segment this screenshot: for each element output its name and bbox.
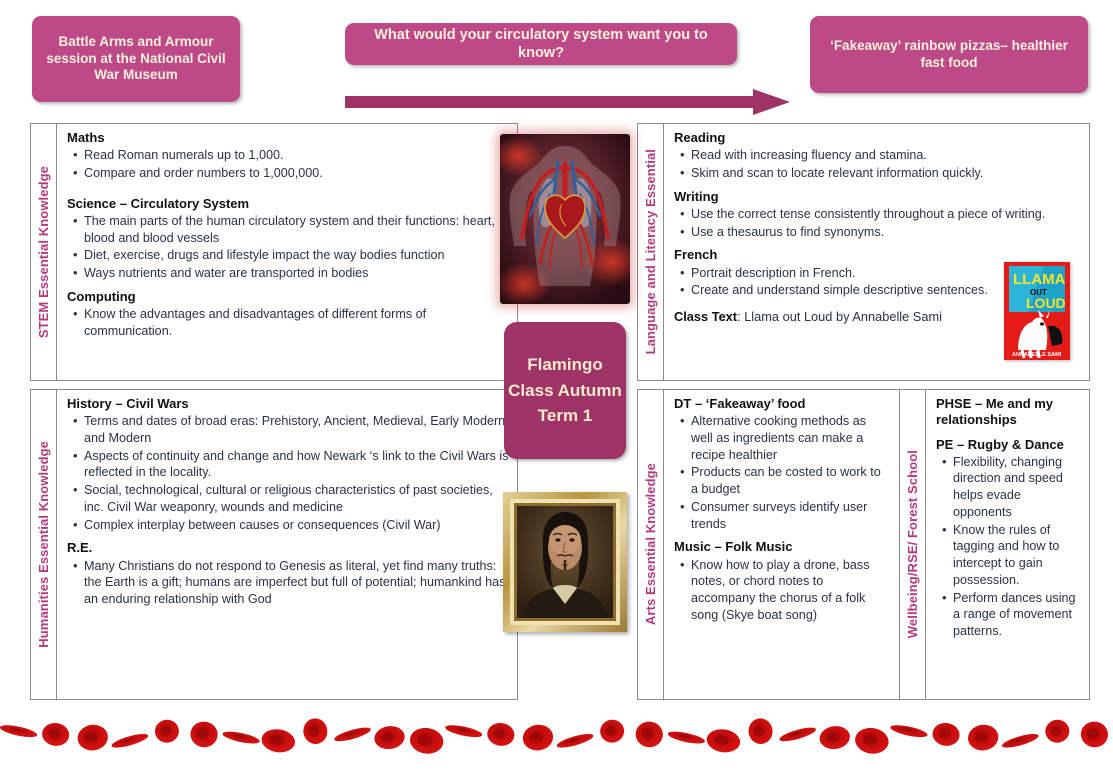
blood-cell [818,724,851,751]
banner-driving-question-text: What would your circulatory system want … [355,26,727,62]
blood-cell [931,721,961,747]
language-label-column: Language and Literacy Essential [638,124,664,380]
stem-vertical-label: STEM Essential Knowledge [36,166,51,338]
blood-cell [1079,720,1109,749]
arts-vertical-label: Arts Essential Knowledge [643,463,658,625]
blood-cell [705,727,741,754]
class-text-value: : Llama out Loud by Annabelle Sami [737,309,942,324]
language-section-heading: Reading [674,130,1081,146]
right-arrow-icon [345,88,790,116]
arts-content: DT – ‘Fakeaway’ foodAlternative cooking … [664,390,899,699]
stem-section-heading: Maths [67,130,509,146]
blood-cell [1044,718,1071,744]
list-item: Many Christians do not respond to Genesi… [84,558,509,608]
humanities-label-column: Humanities Essential Knowledge [31,390,57,699]
list-item: Skim and scan to locate relevant informa… [691,165,1081,182]
blood-cell [222,729,261,746]
wellbeing-section-list: Flexibility, changing direction and spee… [936,454,1081,640]
banner-museum-visit: Battle Arms and Armour session at the Na… [32,16,240,102]
list-item: Know how to play a drone, bass notes, or… [691,557,891,624]
list-item: Complex interplay between causes or cons… [84,517,509,534]
arts-section-list: Alternative cooking methods as well as i… [674,413,891,532]
list-item: The main parts of the human circulatory … [84,213,509,246]
blood-cell [408,726,445,756]
stem-section-list: The main parts of the human circulatory … [67,213,509,282]
blood-cell-border-decoration [0,706,1113,783]
list-item: Use a thesaurus to find synonyms. [691,224,1081,241]
banner-fakeaway-pizza-text: ‘Fakeaway’ rainbow pizzas– healthier fas… [820,38,1078,72]
blood-cell [373,724,406,751]
blood-cell [41,721,71,747]
list-item: Flexibility, changing direction and spee… [953,454,1081,521]
wellbeing-vertical-label: Wellbeing/RSE/ Forest School [905,450,920,638]
stem-content: MathsRead Roman numerals up to 1,000.Com… [57,124,517,380]
humanities-section-heading: History – Civil Wars [67,396,509,412]
arts-label-column: Arts Essential Knowledge [638,390,664,699]
list-item: Read with increasing fluency and stamina… [691,147,1081,164]
svg-text:ANNABELLE SAMI: ANNABELLE SAMI [1012,352,1062,358]
blood-cell [333,725,372,744]
language-vertical-label: Language and Literacy Essential [643,149,658,354]
humanities-section-list: Terms and dates of broad eras: Prehistor… [67,413,509,533]
wellbeing-section-heading: PE – Rugby & Dance [936,437,1081,453]
spacer [67,189,509,196]
list-item: Know the advantages and disadvantages of… [84,306,509,339]
list-item: Use the correct tense consistently throu… [691,206,1081,223]
blood-cell [667,729,706,746]
list-item: Read Roman numerals up to 1,000. [84,147,509,164]
blood-cell [966,723,1000,753]
class-term-badge-text: Flamingo Class Autumn Term 1 [504,352,626,429]
wellbeing-label-column: Wellbeing/RSE/ Forest School [900,390,926,699]
arts-section-heading: Music – Folk Music [674,539,891,555]
blood-cell [76,723,110,753]
humanities-section-list: Many Christians do not respond to Genesi… [67,558,509,608]
arts-section-list: Know how to play a drone, bass notes, or… [674,557,891,624]
list-item: Social, technological, cultural or relig… [84,482,509,515]
king-charles-portrait-image [503,492,627,632]
list-item: Products can be costed to work to a budg… [691,464,891,497]
wellbeing-content: PHSE – Me and my relationshipsPE – Rugby… [926,390,1089,699]
blood-cell [486,721,516,747]
panel-arts-and-wellbeing: Arts Essential Knowledge DT – ‘Fakeaway’… [637,389,1090,700]
language-section-list: Use the correct tense consistently throu… [674,206,1081,240]
stem-label-column: STEM Essential Knowledge [31,124,57,380]
blood-cell [444,723,483,740]
humanities-vertical-label: Humanities Essential Knowledge [36,441,51,648]
banner-driving-question: What would your circulatory system want … [345,23,737,65]
list-item: Compare and order numbers to 1,000,000. [84,165,509,182]
stem-section-heading: Science – Circulatory System [67,196,509,212]
blood-cell [153,718,180,744]
svg-text:LLAMA: LLAMA [1013,271,1066,288]
blood-cell [599,718,626,744]
stem-section-list: Read Roman numerals up to 1,000.Compare … [67,147,509,181]
blood-cell [189,720,219,749]
wellbeing-section-heading: PHSE – Me and my relationships [936,396,1081,429]
language-section-heading: Writing [674,189,1081,205]
list-item: Aspects of continuity and change and how… [84,448,509,481]
blood-cell [634,720,664,749]
class-term-badge: Flamingo Class Autumn Term 1 [504,322,626,459]
blood-cell [260,727,296,754]
panel-stem-essential-knowledge: STEM Essential Knowledge MathsRead Roman… [30,123,518,381]
list-item: Alternative cooking methods as well as i… [691,413,891,463]
class-text-label: Class Text [674,309,737,324]
svg-text:LOUD: LOUD [1026,295,1066,311]
blood-cell [556,731,595,750]
list-item: Terms and dates of broad eras: Prehistor… [84,413,509,446]
spacer [936,430,1081,437]
blood-cell [889,723,928,740]
blood-cell [302,717,329,746]
blood-cell [853,726,890,756]
panel-wellbeing-rse-forest-school: Wellbeing/RSE/ Forest School PHSE – Me a… [900,390,1089,699]
banner-museum-visit-text: Battle Arms and Armour session at the Na… [42,34,230,85]
list-item: Perform dances using a range of movement… [953,590,1081,640]
blood-cell [747,717,774,746]
humanities-content: History – Civil WarsTerms and dates of b… [57,390,517,699]
curriculum-overview-page: Battle Arms and Armour session at the Na… [0,0,1113,783]
blood-cell [778,725,817,744]
panel-humanities-essential-knowledge: Humanities Essential Knowledge History –… [30,389,518,700]
blood-cell [0,723,38,740]
banner-fakeaway-pizza: ‘Fakeaway’ rainbow pizzas– healthier fas… [810,16,1088,93]
blood-cell [521,723,555,753]
list-item: Ways nutrients and water are transported… [84,265,509,282]
panel-arts-essential-knowledge: Arts Essential Knowledge DT – ‘Fakeaway’… [638,390,900,699]
blood-cell [110,731,149,750]
stem-section-list: Know the advantages and disadvantages of… [67,306,509,339]
arts-section-heading: DT – ‘Fakeaway’ food [674,396,891,412]
list-item: Consumer surveys identify user trends [691,499,891,532]
language-section-list: Read with increasing fluency and stamina… [674,147,1081,181]
list-item: Diet, exercise, drugs and lifestyle impa… [84,247,509,264]
llama-out-loud-book-cover-image: LLAMA OUT LOUD ANNABELLE SAMI [1004,262,1070,360]
humanities-section-heading: R.E. [67,540,509,556]
blood-cell [1001,731,1040,750]
list-item: Know the rules of tagging and how to int… [953,522,1081,589]
circulatory-system-image [500,134,630,304]
stem-section-heading: Computing [67,289,509,305]
